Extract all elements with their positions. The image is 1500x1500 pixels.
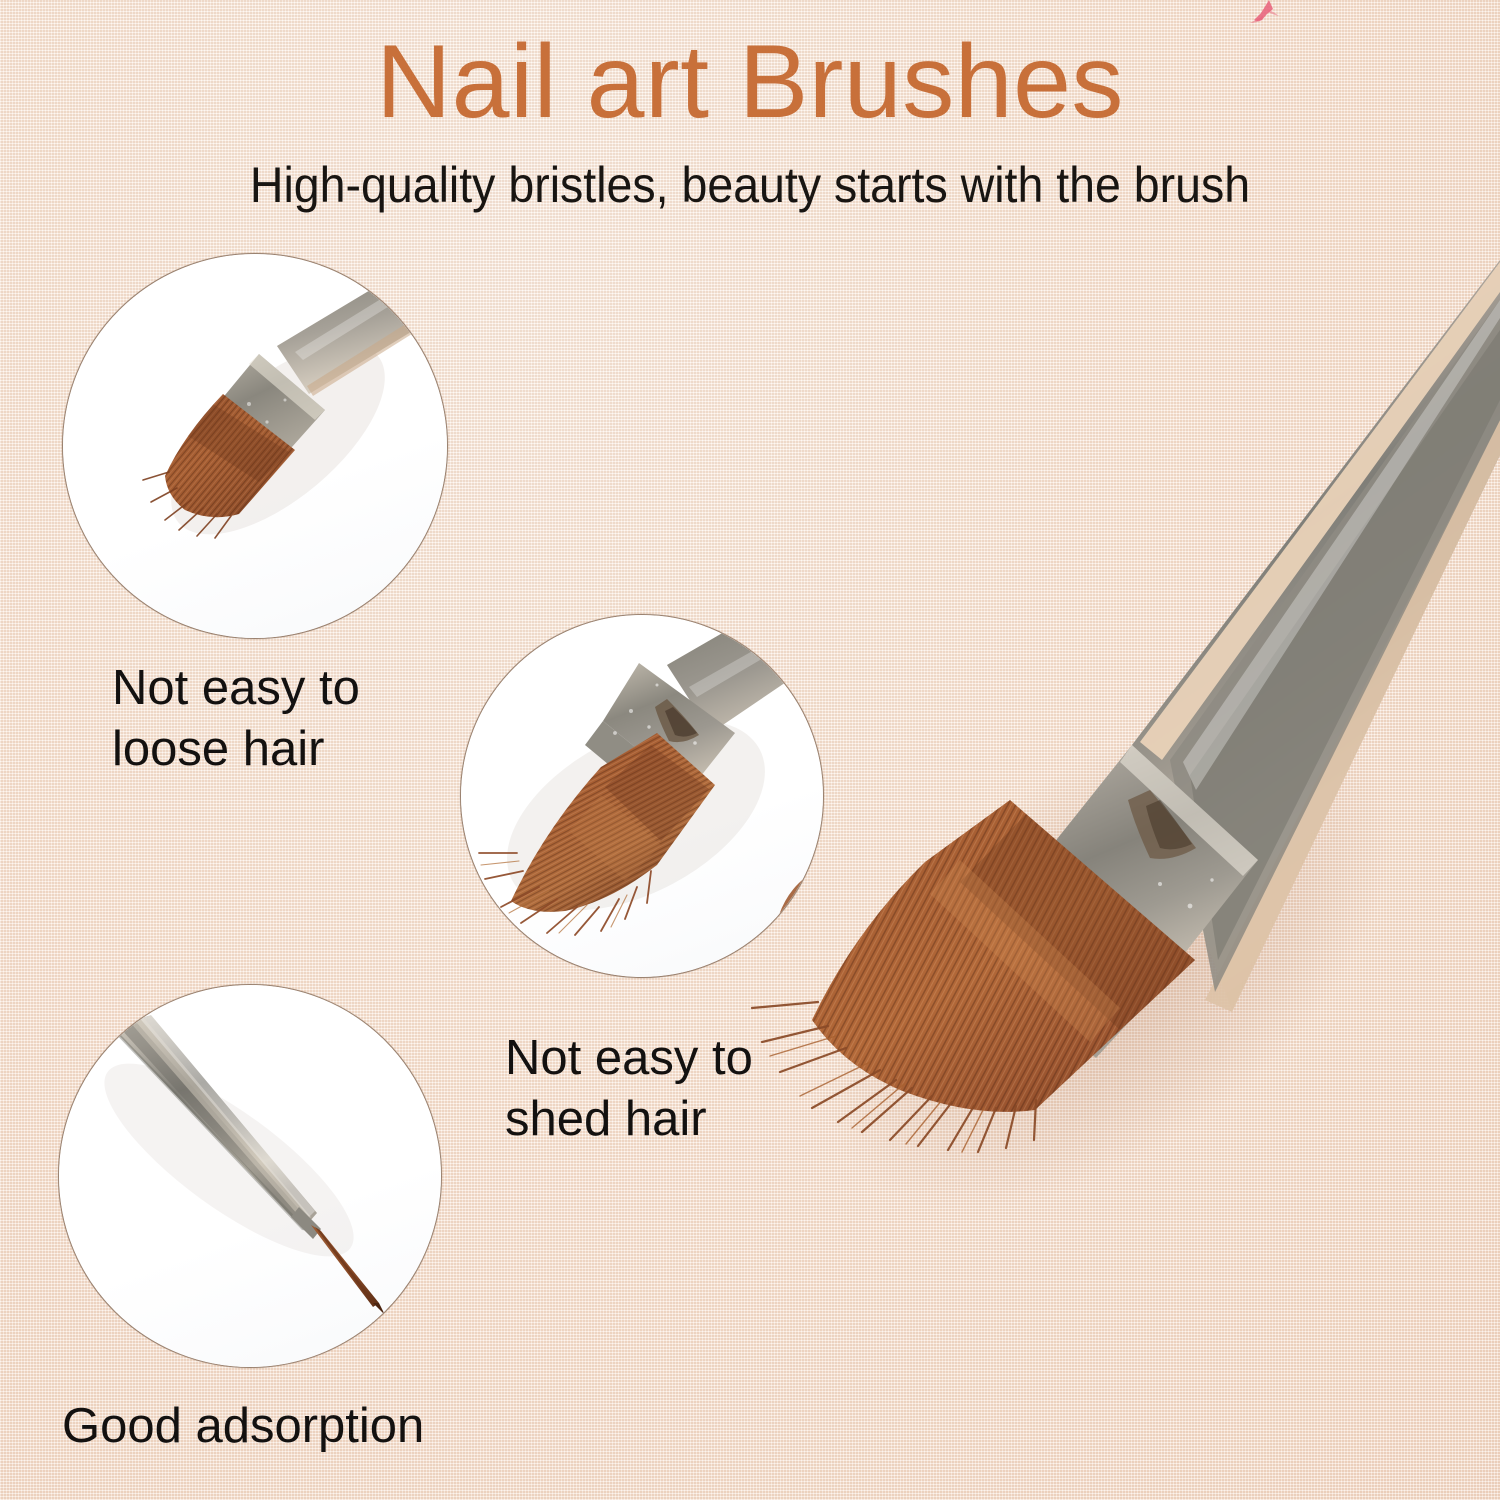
infographic-canvas: Nail art Brushes High-quality bristles, … — [0, 0, 1500, 1500]
callout-circle-flat-brush — [62, 253, 448, 639]
callout-photo-liner-brush — [59, 985, 441, 1367]
callout-caption-flat-brush: Not easy to loose hair — [112, 658, 360, 781]
callout-photo-flat-brush — [63, 254, 447, 638]
callout-caption-liner-brush: Good adsorption — [62, 1396, 424, 1457]
callout-caption-fan-brush: Not easy to shed hair — [505, 1028, 753, 1151]
page-title: Nail art Brushes — [0, 28, 1500, 137]
callout-photo-fan-brush — [461, 615, 823, 977]
callout-circle-liner-brush — [58, 984, 442, 1368]
page-subtitle: High-quality bristles, beauty starts wit… — [53, 158, 1448, 213]
callout-circle-fan-brush — [460, 614, 824, 978]
